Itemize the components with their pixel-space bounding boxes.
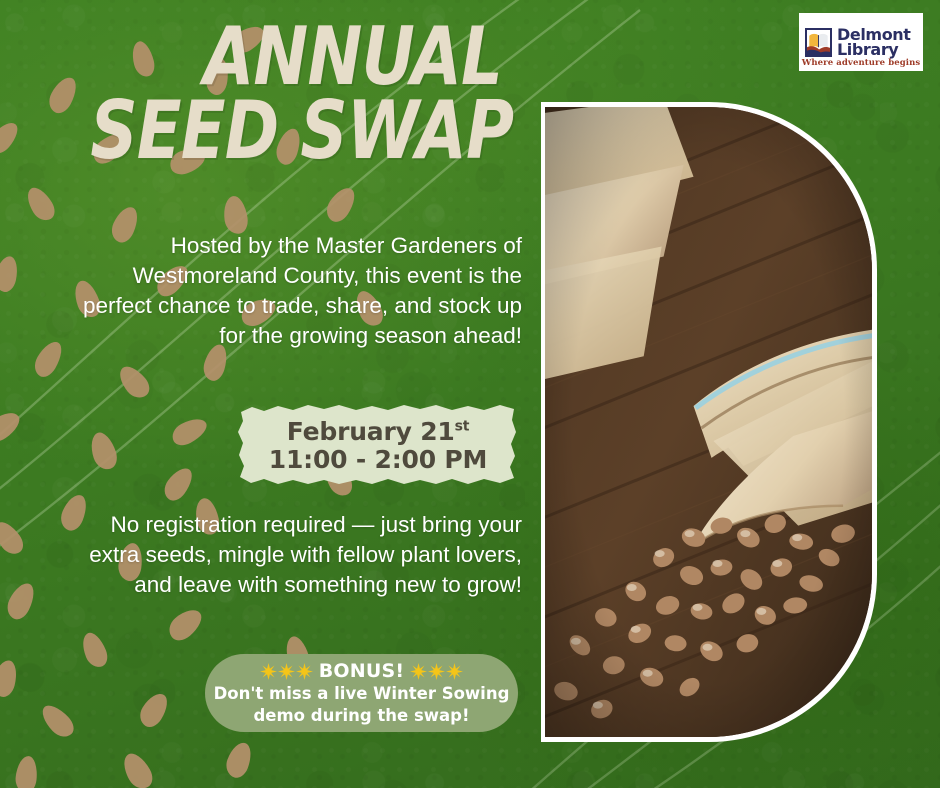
library-logo[interactable]: Delmont Library Where adventure begins xyxy=(799,13,923,71)
seed-shape xyxy=(0,658,20,699)
seed-shape xyxy=(322,183,361,226)
logo-tagline: Where adventure begins xyxy=(799,58,923,68)
seed-shape xyxy=(164,604,207,645)
seed-shape xyxy=(118,749,157,788)
details-paragraph: No registration required — just bring yo… xyxy=(60,510,522,600)
sparkle-star-icon xyxy=(278,663,295,680)
open-book-sunrise-icon xyxy=(805,28,832,57)
bonus-line-2: demo during the swap! xyxy=(253,706,469,726)
page-title: ANNUAL SEED SWAP xyxy=(0,20,520,169)
intro-paragraph: Hosted by the Master Gardeners of Westmo… xyxy=(60,231,522,351)
sparkle-star-icon xyxy=(428,663,445,680)
seed-shape xyxy=(135,689,173,731)
seed-shape xyxy=(168,414,211,450)
seed-shape xyxy=(0,517,28,558)
seed-photo-frame xyxy=(541,102,877,742)
event-date-badge: February 21st 11:00 - 2:00 PM xyxy=(238,403,518,487)
seed-shape xyxy=(87,429,121,472)
seed-shape xyxy=(0,407,24,446)
sparkle-stars-left xyxy=(260,663,313,680)
sparkle-star-icon xyxy=(296,663,313,680)
sparkle-star-icon xyxy=(260,663,277,680)
seed-shape xyxy=(0,254,21,294)
headline-line-1: ANNUAL xyxy=(90,20,502,94)
seed-shape xyxy=(221,195,249,236)
seed-shape xyxy=(14,755,39,788)
seed-shape xyxy=(159,463,197,504)
seed-swap-flyer: Delmont Library Where adventure begins xyxy=(0,0,940,788)
bonus-label: BONUS! xyxy=(319,660,405,682)
seed-shape xyxy=(78,629,111,670)
sparkle-stars-right xyxy=(410,663,463,680)
seed-shape xyxy=(37,700,79,742)
seed-shape xyxy=(223,739,256,780)
seed-shape xyxy=(114,361,154,403)
event-date: February 21st xyxy=(287,418,469,445)
event-time: 11:00 - 2:00 PM xyxy=(269,446,487,473)
headline-line-2: SEED SWAP xyxy=(90,94,502,168)
logo-name-line2: Library xyxy=(837,43,911,58)
sparkle-star-icon xyxy=(446,663,463,680)
seed-shape xyxy=(22,183,59,225)
bonus-line-1: Don't miss a live Winter Sowing xyxy=(214,684,510,704)
date-ordinal-suffix: st xyxy=(455,418,470,434)
sparkle-star-icon xyxy=(410,663,427,680)
seed-photo xyxy=(545,107,872,737)
seed-shape xyxy=(3,579,39,623)
bonus-callout: BONUS! Don't miss a live Winter Sowing d… xyxy=(205,654,518,732)
